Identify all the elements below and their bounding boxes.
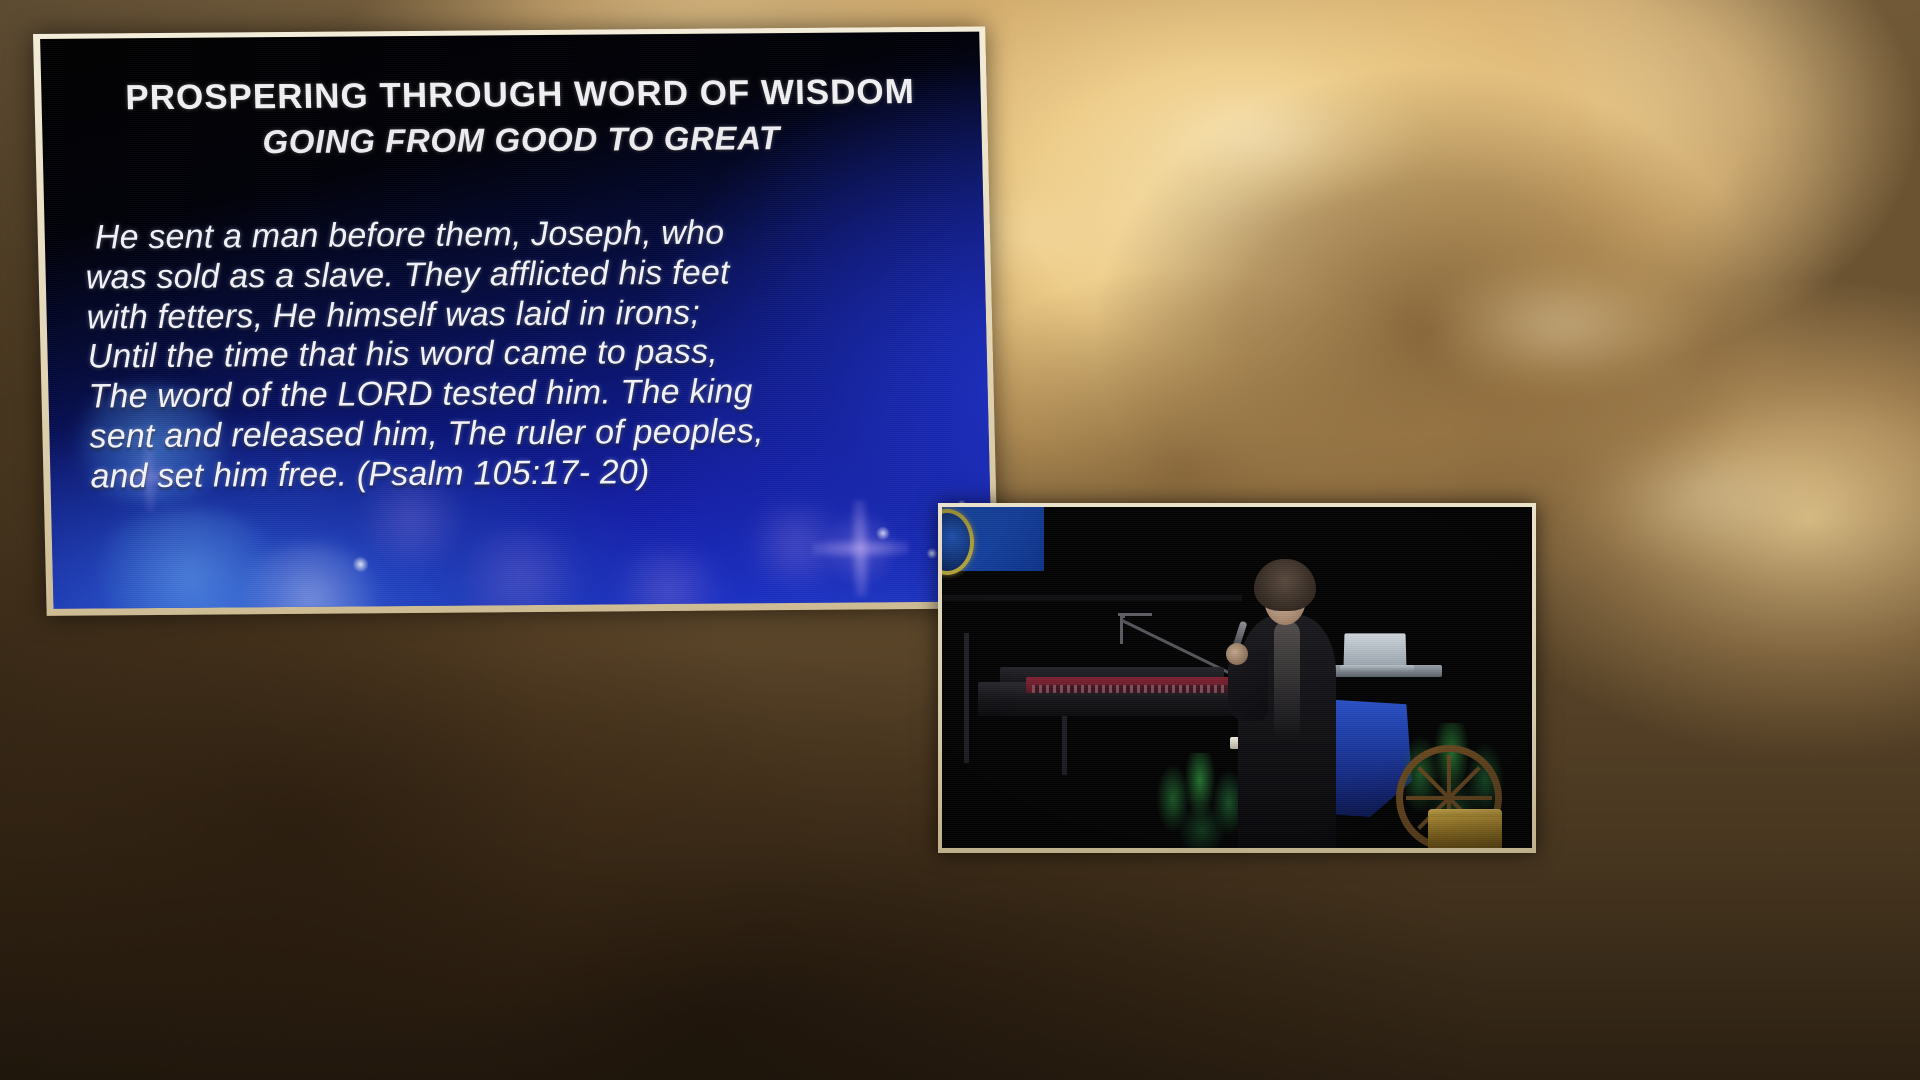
video-inset-canvas (942, 507, 1532, 848)
verse-line: He sent a man before them, Joseph, who (84, 212, 962, 259)
verse-line: sent and released him, The ruler of peop… (89, 410, 967, 457)
video-inset-frame (938, 503, 1536, 853)
microphone-boom-top (1118, 613, 1152, 616)
laptop-screen (1344, 633, 1407, 667)
verse-line: Until the time that his word came to pas… (87, 331, 965, 378)
verse-line: with fetters, He himself was laid in iro… (86, 291, 964, 338)
stage-truss-horizontal (942, 595, 1242, 601)
speaker-hair (1254, 559, 1316, 611)
stage-pole-right (1062, 713, 1067, 775)
verse-line: The word of the LORD tested him. The kin… (88, 371, 966, 418)
verse-text: He sent a man before them, Joseph, who w… (84, 212, 968, 497)
screen: PROSPERING THROUGH WORD OF WISDOM GOING … (0, 0, 1920, 1080)
slide-title-line1: PROSPERING THROUGH WORD OF WISDOM (81, 72, 959, 119)
laptop-base (1340, 665, 1414, 672)
slide-text-block: PROSPERING THROUGH WORD OF WISDOM GOING … (40, 32, 993, 609)
verse-line: and set him free. (Psalm 105:17- 20) (90, 450, 968, 497)
slide-canvas: PROSPERING THROUGH WORD OF WISDOM GOING … (40, 32, 993, 609)
slide-title-line2: GOING FROM GOOD TO GREAT (82, 118, 960, 163)
speaker-person (1234, 559, 1340, 848)
projected-slide: PROSPERING THROUGH WORD OF WISDOM GOING … (33, 27, 999, 616)
stage-pole-left (964, 633, 969, 763)
video-inset[interactable] (938, 503, 1536, 853)
treasure-chest (1428, 817, 1502, 848)
speaker-scarf (1274, 621, 1300, 741)
slide-frame: PROSPERING THROUGH WORD OF WISDOM GOING … (33, 27, 999, 616)
speaker-hand (1226, 643, 1248, 665)
verse-line: was sold as a slave. They afflicted his … (85, 251, 963, 298)
